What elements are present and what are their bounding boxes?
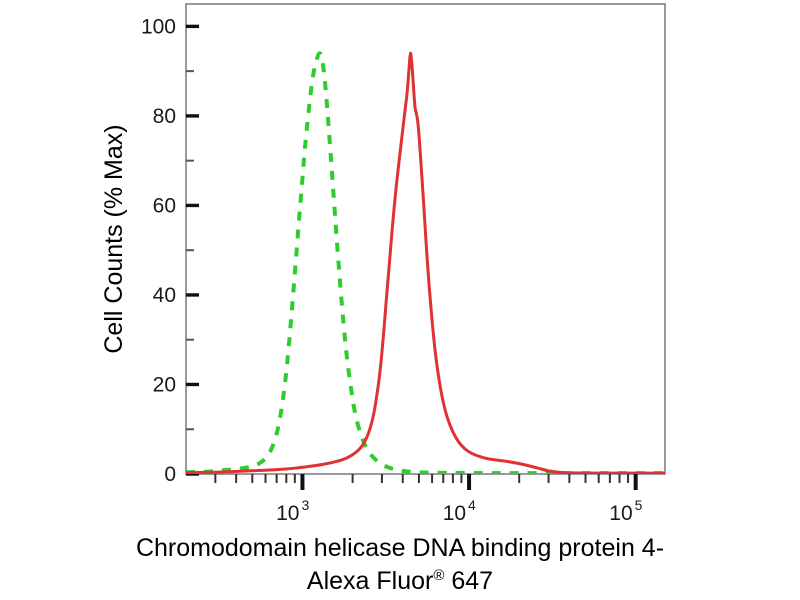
x-axis-tick-exponent: 4 — [468, 497, 476, 513]
flow-cytometry-figure: 020406080100103104105 Cell Counts (% Max… — [0, 0, 800, 600]
y-axis-tick-label: 0 — [164, 463, 176, 486]
x-axis-tick-exponent: 5 — [635, 497, 643, 513]
histogram-plot: 020406080100103104105 Cell Counts (% Max… — [0, 0, 800, 600]
caption-line-1: Chromodomain helicase DNA binding protei… — [136, 534, 664, 562]
y-axis-tick-label: 100 — [141, 15, 176, 38]
caption-line-2-pre: Alexa Fluor — [307, 567, 433, 595]
caption-line-2-post: 647 — [444, 567, 493, 595]
y-axis-tick-label: 60 — [153, 194, 176, 217]
x-axis-tick-label: 10 — [443, 502, 466, 525]
y-axis-title-text: Cell Counts (% Max) — [100, 124, 128, 353]
y-axis-tick-label: 40 — [153, 284, 176, 307]
x-axis-tick-label: 10 — [609, 502, 632, 525]
y-axis-title: Cell Counts (% Max) — [100, 124, 128, 353]
plot-root: 020406080100103104105 — [141, 4, 665, 525]
caption-line-2: Alexa Fluor® 647 — [307, 567, 493, 595]
y-axis-tick-label: 80 — [153, 105, 176, 128]
x-axis-tick-exponent: 3 — [301, 497, 309, 513]
x-axis-tick-label: 10 — [276, 502, 299, 525]
y-axis-tick-label: 20 — [153, 373, 176, 396]
registered-mark-icon: ® — [433, 567, 444, 584]
